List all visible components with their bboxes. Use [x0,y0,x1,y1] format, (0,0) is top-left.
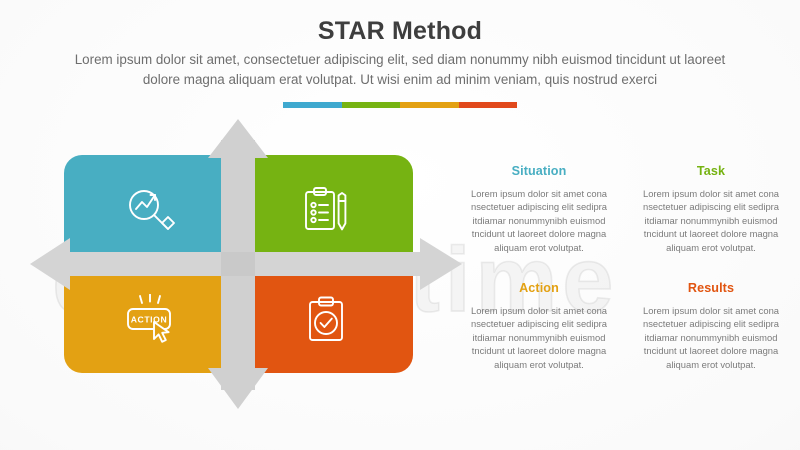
clipboard-check-icon [303,293,349,345]
quadrant-matrix: ACTION [64,155,413,373]
panel-body-results: Lorem ipsum dolor sit amet cona nsectetu… [627,304,795,371]
panel-heading-task: Task [627,164,795,178]
panel-results: Results Lorem ipsum dolor sit amet cona … [627,281,795,371]
clipboard-pencil-icon [300,184,352,236]
page-title: STAR Method [0,17,800,46]
panel-action: Action Lorem ipsum dolor sit amet cona n… [455,281,623,371]
panel-body-situation: Lorem ipsum dolor sit amet cona nsectetu… [455,187,623,254]
quadrant-situation[interactable] [64,155,239,264]
panel-body-action: Lorem ipsum dolor sit amet cona nsectetu… [455,304,623,371]
quadrant-results[interactable] [239,264,414,373]
panel-heading-action: Action [455,281,623,295]
panel-task: Task Lorem ipsum dolor sit amet cona nse… [627,164,795,254]
color-bar-segment-situation [283,102,342,108]
magnifier-chart-icon [122,185,180,235]
infographic-canvas: STAR Method Lorem ipsum dolor sit amet, … [0,0,800,450]
color-bar-segment-action [400,102,459,108]
color-bar-segment-task [342,102,401,108]
accent-color-bar [283,102,517,108]
quadrant-task[interactable] [239,155,414,264]
svg-text:ACTION: ACTION [131,314,168,324]
page-subtitle: Lorem ipsum dolor sit amet, consectetuer… [60,50,740,90]
panel-situation: Situation Lorem ipsum dolor sit amet con… [455,164,623,254]
color-bar-segment-results [459,102,518,108]
quadrant-action[interactable]: ACTION [64,264,239,373]
action-button-cursor-icon: ACTION [120,294,182,344]
panel-heading-results: Results [627,281,795,295]
panel-heading-situation: Situation [455,164,623,178]
panel-body-task: Lorem ipsum dolor sit amet cona nsectetu… [627,187,795,254]
